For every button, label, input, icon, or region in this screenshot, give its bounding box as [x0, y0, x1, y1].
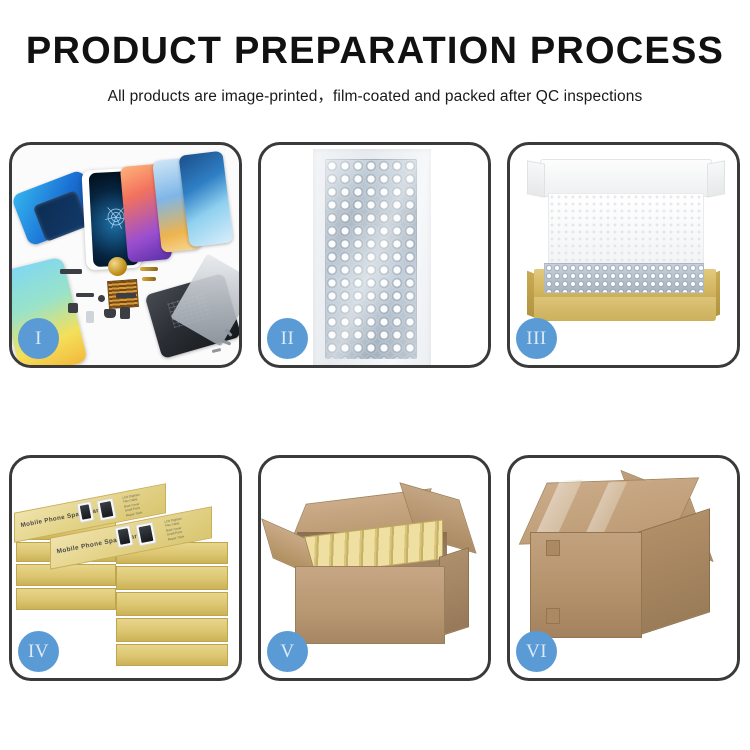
- spare-part-antenna: [116, 293, 136, 298]
- retail-box: [16, 588, 116, 610]
- retail-box-window: [135, 521, 157, 546]
- step-badge-1: I: [18, 318, 59, 359]
- spare-part-speaker: [104, 309, 116, 318]
- steps-grid: I II III: [9, 142, 741, 687]
- retail-box: [116, 644, 228, 666]
- step-badge-6: VI: [516, 631, 557, 672]
- carton-front-panel: [295, 566, 445, 644]
- step-badge-4: IV: [18, 631, 59, 672]
- spare-part-bracket: [76, 293, 94, 297]
- spare-part-strip: [60, 269, 82, 274]
- step-card-4: Mobile Phone Spare Parts LCD Digitizer F…: [9, 455, 242, 681]
- page-title: PRODUCT PREPARATION PROCESS: [0, 32, 750, 72]
- screw-part: [222, 339, 231, 345]
- product-preparation-infographic: PRODUCT PREPARATION PROCESS All products…: [0, 0, 750, 750]
- page-subtitle: All products are image-printed，film-coat…: [0, 84, 750, 106]
- header: PRODUCT PREPARATION PROCESS All products…: [0, 0, 750, 106]
- step-badge-3: III: [516, 318, 557, 359]
- carton-flap-tab: [546, 540, 560, 556]
- retail-box: [116, 592, 228, 616]
- step-badge-5: V: [267, 631, 308, 672]
- step-card-5: V: [258, 455, 491, 681]
- sealed-carton-side-panel: [638, 508, 710, 635]
- retail-box: [16, 564, 116, 586]
- spare-part-button: [98, 295, 105, 302]
- step-card-6: VI: [507, 455, 740, 681]
- bubble-wrapped-contents: [544, 263, 704, 293]
- step-badge-2: II: [267, 318, 308, 359]
- box-lid-back: [540, 159, 712, 197]
- vibration-motor-part: [107, 256, 127, 276]
- carton-flap-tab: [546, 608, 560, 624]
- step-card-1: I: [9, 142, 242, 368]
- retail-box: [116, 618, 228, 642]
- step-card-3: III: [507, 142, 740, 368]
- step-card-2: II: [258, 142, 491, 368]
- spare-part-flex-cable: [142, 277, 156, 281]
- spare-part-camera-lens: [86, 311, 94, 323]
- spare-part-flex-cable: [140, 267, 158, 271]
- spare-part-connector: [68, 303, 78, 313]
- bubble-wrap-bubbles: [325, 159, 417, 359]
- foam-sheet: [548, 193, 704, 271]
- retail-box: [116, 566, 228, 590]
- screw-part: [212, 348, 221, 353]
- spare-part-taptic: [120, 307, 130, 319]
- box-front-panel: [534, 297, 716, 321]
